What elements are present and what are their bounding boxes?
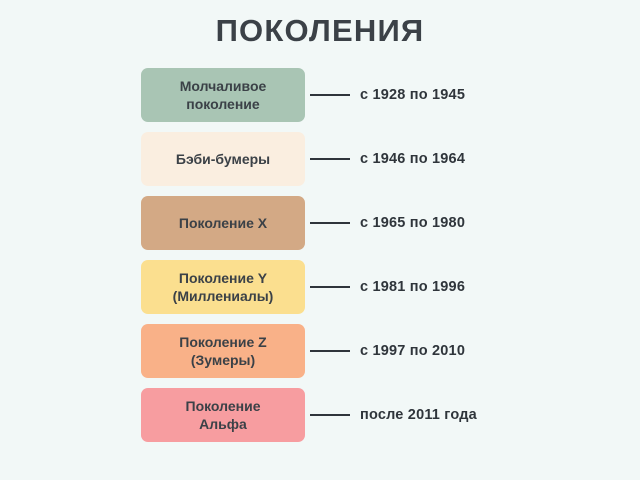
generation-row: Поколение Z (Зумеры)с 1997 по 2010 xyxy=(0,324,640,378)
generation-years: с 1928 по 1945 xyxy=(360,68,465,122)
generation-name: Молчаливое поколение xyxy=(174,77,273,113)
generation-box[interactable]: Поколение Y (Миллениалы) xyxy=(141,260,305,314)
generation-box[interactable]: Бэби-бумеры xyxy=(141,132,305,186)
generation-row: Молчаливое поколениес 1928 по 1945 xyxy=(0,68,640,122)
generation-row: Поколение Альфапосле 2011 года xyxy=(0,388,640,442)
generation-row: Бэби-бумерыс 1946 по 1964 xyxy=(0,132,640,186)
connector-line xyxy=(310,414,350,416)
generations-infographic: ПОКОЛЕНИЯ Молчаливое поколениес 1928 по … xyxy=(0,0,640,480)
connector-line xyxy=(310,222,350,224)
generation-name: Бэби-бумеры xyxy=(170,150,276,168)
generation-box[interactable]: Поколение Z (Зумеры) xyxy=(141,324,305,378)
generation-name: Поколение Альфа xyxy=(180,397,267,433)
generation-row: Поколение Xс 1965 по 1980 xyxy=(0,196,640,250)
generation-box[interactable]: Поколение X xyxy=(141,196,305,250)
generation-years: с 1946 по 1964 xyxy=(360,132,465,186)
generation-years: после 2011 года xyxy=(360,388,477,442)
generation-years: с 1965 по 1980 xyxy=(360,196,465,250)
connector-line xyxy=(310,158,350,160)
generation-name: Поколение Y (Миллениалы) xyxy=(167,269,280,305)
generation-years: с 1981 по 1996 xyxy=(360,260,465,314)
connector-line xyxy=(310,286,350,288)
generation-box[interactable]: Молчаливое поколение xyxy=(141,68,305,122)
generations-list: Молчаливое поколениес 1928 по 1945Бэби-б… xyxy=(0,68,640,452)
connector-line xyxy=(310,94,350,96)
generation-box[interactable]: Поколение Альфа xyxy=(141,388,305,442)
connector-line xyxy=(310,350,350,352)
generation-name: Поколение X xyxy=(173,214,273,232)
generation-row: Поколение Y (Миллениалы)с 1981 по 1996 xyxy=(0,260,640,314)
page-title: ПОКОЛЕНИЯ xyxy=(0,12,640,50)
generation-years: с 1997 по 2010 xyxy=(360,324,465,378)
generation-name: Поколение Z (Зумеры) xyxy=(173,333,272,369)
